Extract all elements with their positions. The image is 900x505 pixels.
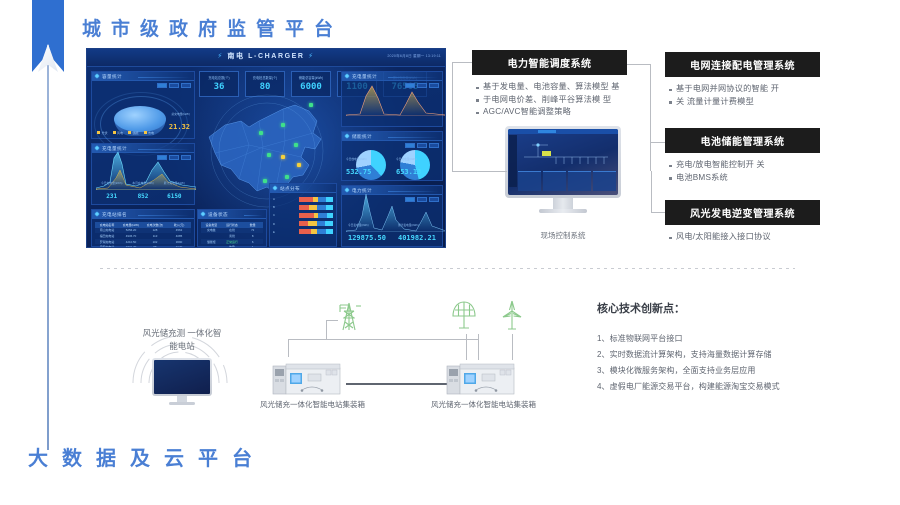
column-header: 收入(元) bbox=[167, 223, 191, 227]
panel-capacity: 容量统计 总充电量(kWh) 21.32 光伏 风电 储能 bbox=[91, 71, 195, 139]
panel-right-trend: 充电量统计 bbox=[341, 71, 443, 127]
radar-caption: 风光储充测 一体化智能电站 bbox=[142, 327, 222, 353]
bolt-icon-2: ⚡ bbox=[308, 53, 315, 60]
list-item: 电池BMS系统 bbox=[667, 172, 818, 185]
list-item: 基于发电量、电池容量、算法模型 基 bbox=[474, 81, 625, 94]
station-monitor-bezel bbox=[152, 358, 212, 396]
info-box-title: 风光发电逆变管理系统 bbox=[665, 200, 820, 225]
poster-root: 城市级政府监管平台 大数据及云平台 ⚡ 南电 L-CHARGER ⚡ 2020年… bbox=[0, 0, 900, 505]
range-button-day[interactable] bbox=[157, 83, 167, 88]
stat-label: 累计充电量(kWh) bbox=[164, 181, 185, 185]
table-row: 罗湖充电站 4210.50 102 3690 bbox=[95, 239, 191, 245]
list-item: 2、实时数据流计算架构，支持海量数据计算存储 bbox=[597, 347, 887, 363]
section-divider bbox=[100, 268, 795, 269]
cabinet-label-2: 风光储充一体化智能电站集装箱 bbox=[431, 399, 536, 410]
pie-top bbox=[114, 106, 166, 132]
column-header: 运行状态 bbox=[222, 223, 243, 227]
map-marker bbox=[309, 103, 313, 107]
bar-row: B bbox=[273, 204, 333, 210]
kpi-label: 充电桩总数量(个) bbox=[246, 75, 284, 80]
wind-drop-line bbox=[512, 334, 513, 360]
connector-inverter bbox=[651, 171, 665, 213]
core-points-list: 1、标准物联网平台接口 2、实时数据流计算架构，支持海量数据计算存储 3、模块化… bbox=[597, 331, 887, 395]
area-chart-right bbox=[346, 84, 446, 116]
panel-charge-trend: 充电量统计 bbox=[91, 143, 195, 205]
panel-header: 储能统计 bbox=[342, 132, 442, 141]
map-marker bbox=[281, 155, 285, 159]
stat-label: 累计发电量(kWh) bbox=[398, 223, 436, 227]
panel-power: 电力统计 今日发电量(kWh) 129875.50 累计发电量(kWh) 401… bbox=[341, 185, 443, 247]
station-monitor-base bbox=[169, 402, 195, 405]
list-item: 3、模块化微服务架构，全面支持业务层应用 bbox=[597, 363, 887, 379]
map-marker bbox=[297, 163, 301, 167]
column-header: 充电站名称 bbox=[95, 223, 119, 227]
diamond-icon bbox=[94, 212, 100, 218]
map-marker bbox=[267, 153, 271, 157]
stat-label: 今日充电量(kWh) bbox=[396, 157, 421, 161]
diamond-icon bbox=[344, 134, 350, 140]
bolt-icon: ⚡ bbox=[217, 53, 224, 60]
energy-stat-0: 今日放电量(kWh) 532.75 bbox=[346, 157, 371, 179]
stat-label: 本月充电量(kWh) bbox=[132, 181, 153, 185]
column-header: 设备类型 bbox=[201, 223, 222, 227]
stat-value: 852 bbox=[138, 193, 149, 200]
station-rank-table: 充电站名称 充电量(kWh) 充电次数(次) 收入(元) 南山充电站 5256.… bbox=[95, 222, 191, 244]
bar-row: E bbox=[273, 229, 333, 235]
info-box-list: 风电/太阳能接入接口协议 bbox=[665, 225, 820, 244]
tower-drop-line bbox=[326, 320, 338, 340]
solar-drop-line bbox=[466, 334, 467, 360]
kpi-label: 储能总容量(kWh) bbox=[292, 75, 330, 80]
connector-monitor-stub bbox=[452, 171, 507, 172]
panel-title: 充电站排名 bbox=[102, 212, 127, 218]
diamond-icon bbox=[272, 186, 278, 192]
monitor-base bbox=[539, 209, 587, 213]
map-marker bbox=[259, 131, 263, 135]
station-monitor bbox=[152, 358, 212, 406]
legend-item: 光伏 bbox=[97, 131, 108, 135]
panel-header: 充电站排名 bbox=[92, 210, 194, 219]
container-cabinet-1 bbox=[272, 362, 342, 396]
list-item: AGC/AVC智能调整策略 bbox=[474, 106, 625, 119]
map-marker bbox=[294, 143, 298, 147]
monitor-caption: 现场控制系统 bbox=[505, 230, 621, 241]
list-item: 于电网电价差、削峰平谷算法模 型 bbox=[474, 94, 625, 107]
list-item: 风电/太阳能接入接口协议 bbox=[667, 231, 818, 244]
panel-station-rank: 充电站排名 充电站名称 充电量(kWh) 充电次数(次) 收入(元) 南山充电站… bbox=[91, 209, 195, 247]
power-stat-0: 今日发电量(kWh) 129875.50 bbox=[348, 223, 386, 245]
bar-row: A bbox=[273, 196, 333, 202]
map-marker bbox=[281, 123, 285, 127]
capacity-value: 21.32 bbox=[169, 123, 190, 131]
header-rule bbox=[244, 215, 262, 216]
range-button-year[interactable] bbox=[181, 83, 191, 88]
kpi-label: 充电站总数(个) bbox=[200, 75, 238, 80]
table-row: 福田充电站 4936.70 113 4085 bbox=[95, 233, 191, 239]
panel-header: 容量统计 bbox=[92, 72, 194, 81]
capacity-center-readout: 总充电量(kWh) 21.32 bbox=[169, 112, 190, 134]
site-control-monitor: 现场控制系统 bbox=[505, 126, 621, 216]
panel-energy: 储能统计 今日放电量(kWh) 532.75 今日充电量(kWh) 653.13 bbox=[341, 131, 443, 181]
stat-0: 今日充电量(kWh) 231 bbox=[101, 181, 122, 203]
info-box-title: 电网连接配电管理系统 bbox=[665, 52, 820, 77]
column-header: 充电次数(次) bbox=[143, 223, 167, 227]
dashboard-timestamp: 2020年6月8日 星期一 13:19:11 bbox=[387, 54, 441, 59]
info-box-inverter: 风光发电逆变管理系统 风电/太阳能接入接口协议 bbox=[665, 200, 820, 244]
info-box-dispatch: 电力智能调度系统 基于发电量、电池容量、算法模型 基 于电网电价差、削峰平谷算法… bbox=[472, 50, 627, 119]
list-item: 基于电网并网协议的智能 开 bbox=[667, 83, 818, 96]
range-button-month[interactable] bbox=[169, 83, 179, 88]
power-stat-1: 累计发电量(kWh) 401982.21 bbox=[398, 223, 436, 245]
dashboard-logo: ⚡ 南电 L-CHARGER ⚡ bbox=[217, 51, 314, 61]
wind-turbine-icon bbox=[498, 300, 526, 330]
device-status-table: 设备类型 运行状态 数量 充电桩 在线 72 离线 8 储能柜 正常运行 bbox=[201, 222, 263, 244]
panel-title: 容量统计 bbox=[102, 74, 122, 80]
info-box-list: 基于电网并网协议的智能 开 关 流量计量计费模型 bbox=[665, 77, 820, 108]
panel-header: 设备状态 bbox=[198, 210, 266, 219]
map-marker bbox=[263, 179, 267, 183]
table-row: 充电桩 在线 72 bbox=[201, 228, 263, 234]
stat-label: 今日充电量(kWh) bbox=[101, 181, 122, 185]
legend-item: 市电 bbox=[144, 131, 155, 135]
panel-title: 站点分布 bbox=[280, 186, 300, 192]
table-row: 宝安充电站 3771.40 96 3120 bbox=[95, 244, 191, 248]
station-monitor-screen bbox=[154, 360, 210, 394]
page-title: 城市级政府监管平台 bbox=[82, 14, 343, 41]
header-rule bbox=[138, 77, 190, 78]
stat-value: 653.13 bbox=[396, 168, 421, 176]
bus-line-horizontal bbox=[288, 339, 478, 340]
stat-value: 6150 bbox=[167, 193, 181, 200]
range-button-month[interactable] bbox=[417, 143, 427, 148]
bar-row: C bbox=[273, 212, 333, 218]
panel-header: 站点分布 bbox=[270, 184, 336, 193]
brand-en: L-CHARGER bbox=[248, 53, 304, 60]
stat-label: 今日发电量(kWh) bbox=[348, 223, 386, 227]
panel-title: 充电量统计 bbox=[352, 74, 377, 80]
stat-value: 231 bbox=[106, 193, 117, 200]
range-button-year[interactable] bbox=[429, 143, 439, 148]
panel-device-status: 设备状态 设备类型 运行状态 数量 充电桩 在线 72 离线 8 bbox=[197, 209, 267, 247]
diamond-icon bbox=[344, 74, 350, 80]
table-header-row: 设备类型 运行状态 数量 bbox=[201, 222, 263, 228]
list-item: 1、标准物联网平台接口 bbox=[597, 331, 887, 347]
info-box-grid: 电网连接配电管理系统 基于电网并网协议的智能 开 关 流量计量计费模型 bbox=[665, 52, 820, 108]
table-header-row: 充电站名称 充电量(kWh) 充电次数(次) 收入(元) bbox=[95, 222, 191, 228]
connector-battery bbox=[651, 142, 665, 143]
cabinet-label-1: 风光储充一体化智能电站集装箱 bbox=[260, 399, 365, 410]
stat-1: 本月充电量(kWh) 852 bbox=[132, 181, 153, 203]
bar-row: D bbox=[273, 221, 333, 227]
panel-title: 设备状态 bbox=[208, 212, 228, 218]
vertical-arrow-graphic bbox=[22, 0, 72, 470]
legend-item: 储能 bbox=[128, 131, 139, 135]
table-row: 告警 1 bbox=[201, 244, 263, 248]
header-rule bbox=[388, 77, 438, 78]
container-cabinet-2 bbox=[446, 362, 516, 396]
brand-cn: 南电 bbox=[227, 53, 244, 60]
panel-range-buttons[interactable] bbox=[405, 143, 439, 148]
cabinet-svg bbox=[272, 362, 342, 396]
range-button-day[interactable] bbox=[405, 143, 415, 148]
stat-value: 532.75 bbox=[346, 168, 371, 176]
map-marker bbox=[285, 175, 289, 179]
arrow-shaft bbox=[47, 45, 49, 450]
bus-line-left-drop bbox=[288, 339, 289, 357]
dashboard-screenshot: ⚡ 南电 L-CHARGER ⚡ 2020年6月8日 星期一 13:19:11 … bbox=[86, 48, 446, 248]
footer-title: 大数据及云平台 bbox=[28, 442, 266, 471]
panel-header: 充电量统计 bbox=[342, 72, 442, 81]
stat-2: 累计充电量(kWh) 6150 bbox=[164, 181, 185, 203]
connector-grid bbox=[623, 64, 651, 171]
cabinet-svg bbox=[446, 362, 516, 396]
charge-trend-stats: 今日充电量(kWh) 231 本月充电量(kWh) 852 累计充电量(kWh)… bbox=[96, 181, 190, 203]
info-box-title: 电池储能管理系统 bbox=[665, 128, 820, 153]
monitor-screen bbox=[508, 129, 618, 195]
info-box-battery: 电池储能管理系统 充电/放电智能控制开 关 电池BMS系统 bbox=[665, 128, 820, 184]
monitor-bezel bbox=[505, 126, 621, 198]
panel-stacked-bars: 站点分布 A B C D E bbox=[269, 183, 337, 247]
table-row: 南山充电站 5256.20 128 4562 bbox=[95, 228, 191, 234]
panel-legend: 光伏 风电 储能 市电 bbox=[97, 131, 154, 135]
info-box-list: 充电/放电智能控制开 关 电池BMS系统 bbox=[665, 153, 820, 184]
dashboard-topbar: ⚡ 南电 L-CHARGER ⚡ 2020年6月8日 星期一 13:19:11 bbox=[87, 49, 445, 67]
header-rule bbox=[138, 215, 190, 216]
column-header: 充电量(kWh) bbox=[119, 223, 143, 227]
stacked-bar-chart: A B C D E bbox=[273, 196, 333, 244]
legend-item: 风电 bbox=[113, 131, 124, 135]
solar-drop-line-2 bbox=[478, 334, 479, 360]
header-rule bbox=[388, 137, 438, 138]
panel-title: 储能统计 bbox=[352, 134, 372, 140]
stat-value: 129875.50 bbox=[348, 234, 386, 242]
stat-value: 401982.21 bbox=[398, 234, 436, 242]
column-header: 数量 bbox=[242, 223, 263, 227]
table-row: 储能柜 正常运行 6 bbox=[201, 239, 263, 245]
solar-panel-icon bbox=[450, 300, 478, 330]
list-item: 充电/放电智能控制开 关 bbox=[667, 159, 818, 172]
stat-label: 今日放电量(kWh) bbox=[346, 157, 371, 161]
list-item: 关 流量计量计费模型 bbox=[667, 96, 818, 109]
panel-range-buttons[interactable] bbox=[157, 83, 191, 88]
info-box-list: 基于发电量、电池容量、算法模型 基 于电网电价差、削峰平谷算法模 型 AGC/A… bbox=[472, 75, 627, 119]
diamond-icon bbox=[200, 212, 206, 218]
capacity-label: 总充电量(kWh) bbox=[169, 112, 190, 116]
info-box-title: 电力智能调度系统 bbox=[472, 50, 627, 75]
diamond-icon bbox=[94, 74, 100, 80]
energy-stat-1: 今日充电量(kWh) 653.13 bbox=[396, 157, 421, 179]
list-item: 4、虚假电厂能源交易平台，构建能源淘宝交易模式 bbox=[597, 379, 887, 395]
core-points-title: 核心技术创新点： bbox=[597, 300, 685, 316]
transmission-tower-icon bbox=[335, 300, 365, 332]
